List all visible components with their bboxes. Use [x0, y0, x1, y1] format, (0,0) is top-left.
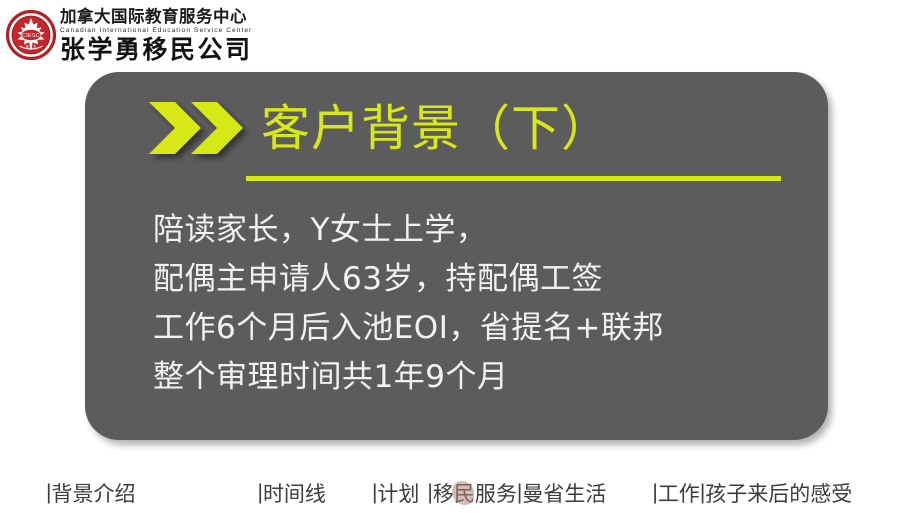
- bottom-nav: | 背景介绍 | 时间线 | 计划 | 移民服务 | 曼省生活 | 工作 | 孩…: [46, 478, 876, 508]
- slide-title-row: 客户背景（下）: [147, 100, 611, 156]
- ciesc-maple-leaf-seal-icon: CIESC 加拿大: [6, 10, 56, 60]
- company-name-en: Canadian International Education Service…: [60, 28, 253, 35]
- slide-content-panel: 客户背景（下） 陪读家长，Y女士上学， 配偶主申请人63岁，持配偶工签 工作6个…: [85, 72, 828, 440]
- page-title: 客户背景（下）: [261, 104, 611, 153]
- body-line: 陪读家长，Y女士上学，: [153, 206, 813, 255]
- company-name-cn-main: 张学勇移民公司: [60, 37, 253, 62]
- company-header-logo: CIESC 加拿大 加拿大国际教育服务中心 Canadian Internati…: [6, 4, 276, 66]
- nav-item-timeline[interactable]: 时间线: [263, 478, 326, 508]
- svg-text:CIESC: CIESC: [22, 33, 40, 39]
- nav-item-children-feelings[interactable]: 孩子来后的感受: [705, 478, 852, 508]
- body-line: 配偶主申请人63岁，持配偶工签: [153, 255, 813, 304]
- body-line: 工作6个月后入池EOI，省提名+联邦: [153, 304, 813, 353]
- nav-item-background[interactable]: 背景介绍: [51, 478, 135, 508]
- logo-text-block: 加拿大国际教育服务中心 Canadian International Educa…: [60, 8, 253, 62]
- nav-item-work[interactable]: 工作: [658, 478, 700, 508]
- svg-text:加拿大: 加拿大: [25, 43, 36, 48]
- body-line: 整个审理时间共1年9个月: [153, 353, 813, 402]
- nav-item-plan[interactable]: 计划: [377, 478, 419, 508]
- slide-body-text: 陪读家长，Y女士上学， 配偶主申请人63岁，持配偶工签 工作6个月后入池EOI，…: [153, 206, 813, 402]
- title-underline-rule: [246, 176, 781, 181]
- double-chevron-right-icon: [147, 100, 247, 156]
- company-name-cn-top: 加拿大国际教育服务中心: [60, 9, 253, 26]
- nav-item-manitoba-life[interactable]: 曼省生活: [522, 478, 606, 508]
- nav-item-immigration-service[interactable]: 移民服务: [433, 478, 517, 508]
